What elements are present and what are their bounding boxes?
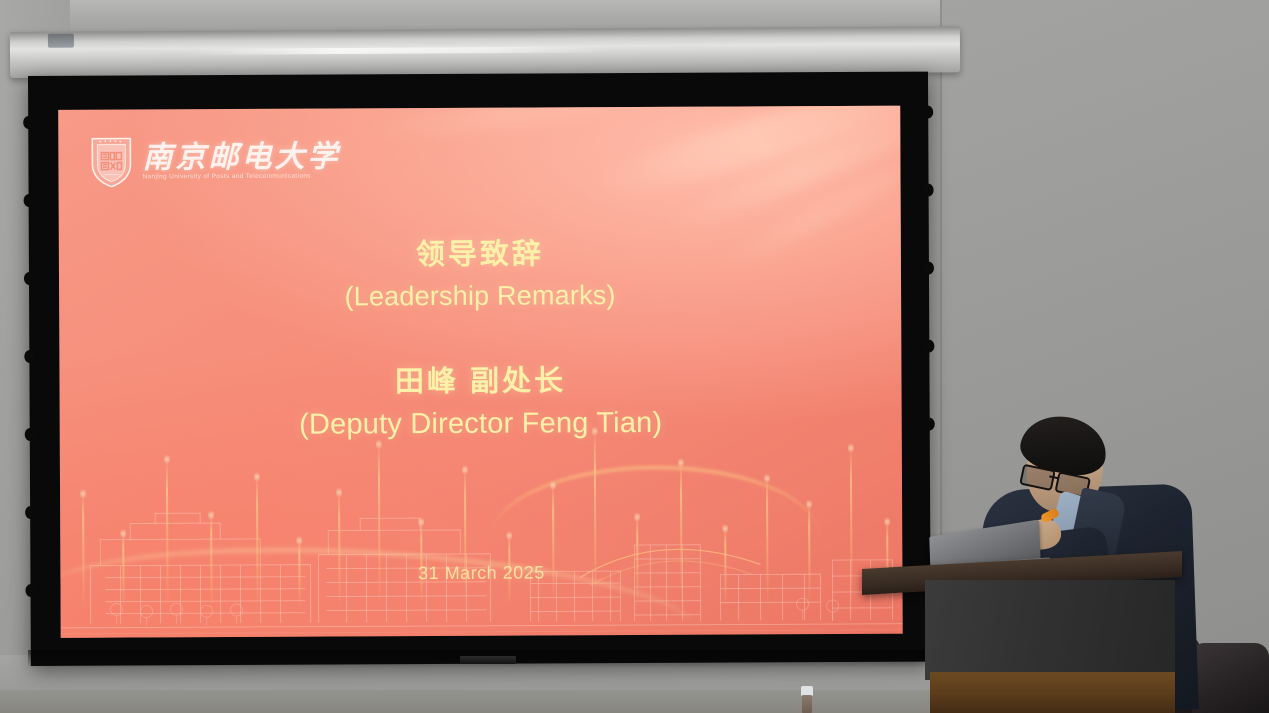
slide-text-block: 领导致辞 (Leadership Remarks) 田峰 副处长 (Deputy…	[59, 232, 902, 448]
screen-tension-tab	[923, 340, 934, 353]
slide-title-english: (Leadership Remarks)	[59, 274, 901, 319]
screen-tension-tab	[923, 184, 934, 197]
screen-tension-tab	[922, 106, 933, 119]
screen-tension-tab	[24, 194, 35, 207]
screen-tension-tab	[23, 116, 34, 129]
podium-body	[925, 580, 1175, 680]
screen-bottom-bracket	[460, 656, 516, 664]
slide-date: 31 March 2025	[60, 561, 902, 586]
projector-screen-housing	[10, 26, 960, 78]
university-crest-icon	[89, 134, 133, 188]
university-logo: 南京邮电大学 Nanjing University of Posts and T…	[89, 133, 340, 188]
screen-tension-tab	[24, 350, 35, 363]
projection-screen: 南京邮电大学 Nanjing University of Posts and T…	[28, 72, 931, 666]
logo-english-name: Nanjing University of Posts and Telecomm…	[142, 173, 340, 180]
lecture-room-photo: 南京邮电大学 Nanjing University of Posts and T…	[0, 0, 1269, 713]
podium-base	[930, 672, 1175, 713]
screen-tension-tab	[25, 584, 36, 597]
speaker-name-chinese: 田峰 副处长	[59, 358, 901, 404]
light-streak	[358, 106, 689, 144]
bottle-body	[802, 695, 812, 713]
slide-title-chinese: 领导致辞	[59, 232, 901, 278]
baseboard	[0, 690, 940, 713]
screen-tension-tab	[923, 262, 934, 275]
screen-tension-tab	[25, 428, 36, 441]
housing-highlight	[190, 46, 610, 55]
housing-endcap	[48, 34, 74, 48]
presentation-slide: 南京邮电大学 Nanjing University of Posts and T…	[58, 106, 903, 638]
screen-tension-tab	[924, 418, 935, 431]
campus-skyline-graphic	[60, 424, 903, 638]
water-bottle	[800, 686, 814, 713]
logo-chinese-name: 南京邮电大学	[142, 141, 340, 173]
screen-tension-tab	[24, 272, 35, 285]
screen-tension-tab	[25, 506, 36, 519]
